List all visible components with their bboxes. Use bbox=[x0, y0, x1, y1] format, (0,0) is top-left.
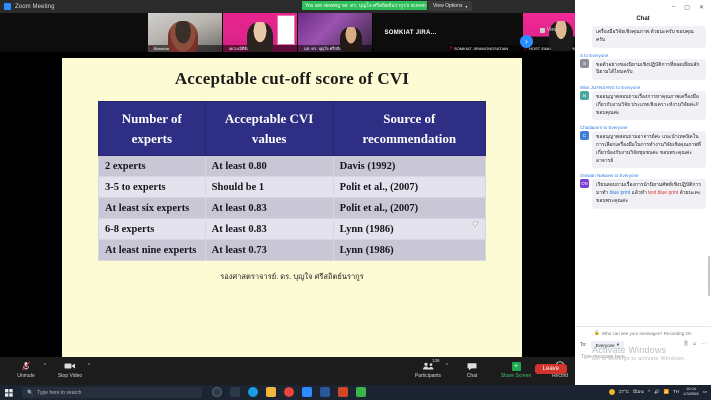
chat-input[interactable]: Type message here... bbox=[575, 351, 711, 363]
volume-icon[interactable]: 🔊 bbox=[654, 389, 660, 395]
participant-name: Burachart Siripeng-or bbox=[148, 45, 222, 52]
windows-taskbar: 🔍 Type here to search 27°C มีเมฆ ^ 🔊 📶 T… bbox=[0, 385, 711, 400]
more-icon[interactable]: ⋯ bbox=[701, 341, 706, 349]
stop-video-button[interactable]: Stop Video ^ bbox=[48, 359, 92, 379]
tray-expand-icon[interactable]: ^ bbox=[648, 389, 650, 394]
chat-message-text: ขออนุญาตสอบถามอาจารย์ค่ะ แนะนำเทคนิคใน ก… bbox=[592, 131, 706, 168]
cell-source: Davis (1992) bbox=[333, 156, 485, 177]
action-center-icon[interactable]: ▭ bbox=[703, 389, 707, 395]
participant-tile[interactable]: MCU/มิติธิกา นาทอง bbox=[223, 13, 298, 52]
edge-icon[interactable] bbox=[248, 387, 258, 397]
cvi-table: Number of experts Acceptable CVI values … bbox=[98, 101, 486, 261]
chat-message: S to Everyone S ขอตัวอย่างของนิยามเชิงปฏ… bbox=[580, 53, 706, 81]
close-button[interactable]: ✕ bbox=[699, 4, 704, 11]
chevron-up-icon[interactable]: ^ bbox=[44, 363, 46, 369]
screen-root: Zoom Meeting You are viewing รศ. ดร. บุญ… bbox=[0, 0, 711, 400]
weather-label: มีเมฆ bbox=[633, 388, 644, 395]
network-icon[interactable]: 📶 bbox=[664, 389, 670, 395]
column-header-acceptable-cvi-values: Acceptable CVI values bbox=[205, 102, 333, 156]
chat-recipient-dropdown[interactable]: Everyone ▾ bbox=[591, 341, 624, 349]
chat-message: Miss JUANSANG to Everyone N ขออนุญาตสอบถ… bbox=[580, 85, 706, 120]
cell-source: Lynn (1986) bbox=[333, 240, 485, 261]
chat-action-icons: 🗎 ☺ ⋯ bbox=[684, 341, 706, 349]
chat-message-text: ขออนุญาตสอบถามเรื่องการหาคุณภาพเครื่องมื… bbox=[592, 91, 706, 120]
minimize-button[interactable]: – bbox=[672, 4, 675, 10]
screen-share-banner: You are viewing รศ. ดร. บุญใจ ศรีสถิตย์น… bbox=[302, 1, 427, 10]
chat-scrollbar[interactable] bbox=[708, 256, 710, 296]
view-button-label: View bbox=[547, 27, 558, 33]
cell-cvi: Should be 1 bbox=[205, 177, 333, 198]
view-options-button[interactable]: View Options ▾ bbox=[428, 1, 472, 11]
avatar: C bbox=[580, 131, 589, 140]
taskbar-app-icons bbox=[212, 387, 366, 397]
maximize-button[interactable]: ▢ bbox=[684, 4, 690, 11]
windows-start-icon[interactable] bbox=[5, 389, 13, 397]
cell-experts: 2 experts bbox=[99, 156, 206, 177]
mic-off-icon bbox=[21, 361, 31, 371]
avatar: S bbox=[580, 59, 589, 68]
participant-tile[interactable]: Burachart Siripeng-or bbox=[148, 13, 223, 52]
chevron-down-icon: ▾ bbox=[617, 342, 619, 348]
participants-label: Participants bbox=[415, 373, 441, 379]
chat-label: Chat bbox=[467, 373, 478, 379]
chat-message-list[interactable]: เครื่องมือวิจัยเชิงคุณภาพ ด้วยนะครับ ขอบ… bbox=[575, 26, 711, 326]
next-participants-arrow[interactable]: › bbox=[520, 35, 533, 48]
emoji-icon[interactable]: ☺ bbox=[692, 341, 697, 349]
search-placeholder: Type here to search bbox=[37, 390, 81, 396]
file-icon[interactable]: 🗎 bbox=[684, 341, 688, 349]
chat-message-sender: Orawan Nakaew to Everyone bbox=[580, 173, 706, 178]
toolbar-left-group: Unmute ^ Stop Video ^ bbox=[4, 359, 92, 379]
search-input[interactable]: 🔍 Type here to search bbox=[22, 387, 202, 398]
avatar: ON bbox=[580, 179, 589, 188]
unmute-label: Unmute bbox=[17, 373, 35, 379]
participant-name: SOMKIAT JIRA... bbox=[384, 30, 436, 36]
chevron-up-icon[interactable]: ^ bbox=[88, 363, 90, 369]
participant-tile[interactable]: SOMKIAT JIRAWONGSATIAN bbox=[448, 13, 523, 52]
cell-source: Polit et al., (2007) bbox=[333, 198, 485, 219]
window-controls: – ▢ ✕ bbox=[575, 0, 711, 14]
lock-icon: 🔒 bbox=[594, 330, 600, 336]
chat-to-label: To: bbox=[580, 342, 587, 348]
chat-recipient-row: To: Everyone ▾ 🗎 ☺ ⋯ bbox=[575, 339, 711, 351]
zoom-control-toolbar: Unmute ^ Stop Video ^ 136 Participants ^ bbox=[0, 357, 575, 385]
stop-video-label: Stop Video bbox=[58, 373, 82, 379]
view-layout-button[interactable]: View bbox=[540, 26, 558, 34]
table-row: At least nine experts At least 0.73 Lynn… bbox=[99, 240, 486, 261]
chat-notice-text: Who can see your messages? Recording On bbox=[602, 331, 692, 336]
line-icon[interactable] bbox=[356, 387, 366, 397]
share-screen-button[interactable]: + Share Screen bbox=[494, 359, 538, 379]
column-header-number-of-experts: Number of experts bbox=[99, 102, 206, 156]
search-icon: 🔍 bbox=[27, 390, 33, 396]
clock-date: 1/3/2565 bbox=[683, 391, 699, 396]
participant-tile-name-only[interactable]: SOMKIAT JIRA... bbox=[373, 13, 448, 52]
leave-meeting-button[interactable]: Leave bbox=[535, 364, 567, 374]
cortana-icon[interactable] bbox=[212, 387, 222, 397]
video-filmstrip: Burachart Siripeng-or MCU/มิติธิกา นาทอง… bbox=[0, 13, 575, 52]
cell-experts: At least six experts bbox=[99, 198, 206, 219]
chat-privacy-notice[interactable]: 🔒 Who can see your messages? Recording O… bbox=[575, 326, 711, 339]
chat-message-text: เรียนสอบถามเรื่องการนำนิยามศัพท์เชิงปฏิบ… bbox=[592, 179, 706, 208]
chevron-up-icon[interactable]: ^ bbox=[446, 363, 448, 369]
weather-icon[interactable] bbox=[609, 389, 615, 395]
cell-cvi: At least 0.80 bbox=[205, 156, 333, 177]
cell-experts: At least nine experts bbox=[99, 240, 206, 261]
zoom-app-title: Zoom Meeting bbox=[15, 4, 55, 10]
participant-name: นส. ดร. บุญใจ ศรีสถิตย์นรากูร bbox=[298, 45, 372, 52]
task-view-icon[interactable] bbox=[230, 387, 240, 397]
column-header-source-of-recommendation: Source of recommendation bbox=[333, 102, 485, 156]
chat-message: Orawan Nakaew to Everyone ON เรียนสอบถาม… bbox=[580, 173, 706, 208]
powerpoint-icon[interactable] bbox=[338, 387, 348, 397]
chat-recipient-value: Everyone bbox=[596, 343, 615, 348]
table-row: 3-5 to experts Should be 1 Polit et al.,… bbox=[99, 177, 486, 198]
video-icon bbox=[64, 361, 76, 371]
cell-cvi: At least 0.83 bbox=[205, 219, 333, 240]
cell-source: Polit et al., (2007) bbox=[333, 177, 485, 198]
shared-slide-thumbnail bbox=[277, 15, 295, 45]
chat-message: Chadaporn to Everyone C ขออนุญาตสอบถามอา… bbox=[580, 125, 706, 168]
cell-source: Lynn (1986) bbox=[333, 219, 485, 240]
cell-cvi: At least 0.73 bbox=[205, 240, 333, 261]
presentation-slide: Acceptable cut-off score of CVI Number o… bbox=[62, 58, 522, 358]
slide-footer-author: รองศาสตราจารย์. ดร. บุญใจ ศรีสถิตย์นรากู… bbox=[62, 271, 522, 283]
chat-message-sender: S to Everyone bbox=[580, 53, 706, 58]
table-row: 6-8 experts At least 0.83 Lynn (1986) bbox=[99, 219, 486, 240]
participant-tile[interactable]: นส. ดร. บุญใจ ศรีสถิตย์นรากูร bbox=[298, 13, 373, 52]
view-options-label: View Options bbox=[433, 3, 462, 9]
cell-experts: 6-8 experts bbox=[99, 219, 206, 240]
cell-cvi: At least 0.83 bbox=[205, 198, 333, 219]
avatar: N bbox=[580, 91, 589, 100]
participants-button[interactable]: 136 Participants ^ bbox=[406, 359, 450, 379]
temperature-label: 27°C bbox=[619, 389, 629, 394]
chat-message-sender: Miss JUANSANG to Everyone bbox=[580, 85, 706, 90]
share-screen-label: Share Screen bbox=[501, 373, 532, 379]
system-tray: 27°C มีเมฆ ^ 🔊 📶 TH 10:04 1/3/2565 ▭ bbox=[609, 387, 707, 396]
chat-panel: – ▢ ✕ Chat เครื่องมือวิจัยเชิงคุณภาพ ด้ว… bbox=[575, 0, 711, 385]
shared-screen-stage: Acceptable cut-off score of CVI Number o… bbox=[0, 52, 575, 357]
participant-name: SOMKIAT JIRAWONGSATIAN bbox=[448, 45, 522, 52]
file-explorer-icon[interactable] bbox=[266, 387, 276, 397]
chat-icon bbox=[467, 361, 477, 371]
unmute-button[interactable]: Unmute ^ bbox=[4, 359, 48, 379]
chrome-icon[interactable] bbox=[284, 387, 294, 397]
table-header-row: Number of experts Acceptable CVI values … bbox=[99, 102, 486, 156]
clock[interactable]: 10:04 1/3/2565 bbox=[683, 387, 699, 396]
zoom-title-bar: Zoom Meeting bbox=[0, 0, 575, 13]
slide-title: Acceptable cut-off score of CVI bbox=[62, 58, 522, 89]
language-icon[interactable]: TH bbox=[673, 389, 679, 394]
participant-name: MCU/มิติธิกา นาทอง bbox=[223, 45, 297, 52]
chat-panel-title: Chat bbox=[575, 14, 711, 26]
chat-message: เครื่องมือวิจัยเชิงคุณภาพ ด้วยนะครับ ขอบ… bbox=[580, 26, 706, 48]
table-row: At least six experts At least 0.83 Polit… bbox=[99, 198, 486, 219]
share-screen-icon: + bbox=[512, 361, 521, 371]
zoom-app-icon bbox=[4, 3, 11, 10]
participants-count: 136 bbox=[432, 358, 440, 363]
zoom-taskbar-icon[interactable] bbox=[302, 387, 312, 397]
chevron-down-icon: ▾ bbox=[465, 4, 467, 9]
chat-message-text: เครื่องมือวิจัยเชิงคุณภาพ ด้วยนะครับ ขอบ… bbox=[592, 26, 706, 48]
word-icon[interactable] bbox=[320, 387, 330, 397]
cell-experts: 3-5 to experts bbox=[99, 177, 206, 198]
chat-message-text: ขอตัวอย่างของนิยามเชิงปฏิบัติการที่ยอดเย… bbox=[592, 59, 706, 81]
grid-icon bbox=[540, 28, 545, 33]
chat-message-sender: Chadaporn to Everyone bbox=[580, 125, 706, 130]
chat-button[interactable]: Chat bbox=[450, 359, 494, 379]
table-row: 2 experts At least 0.80 Davis (1992) bbox=[99, 156, 486, 177]
